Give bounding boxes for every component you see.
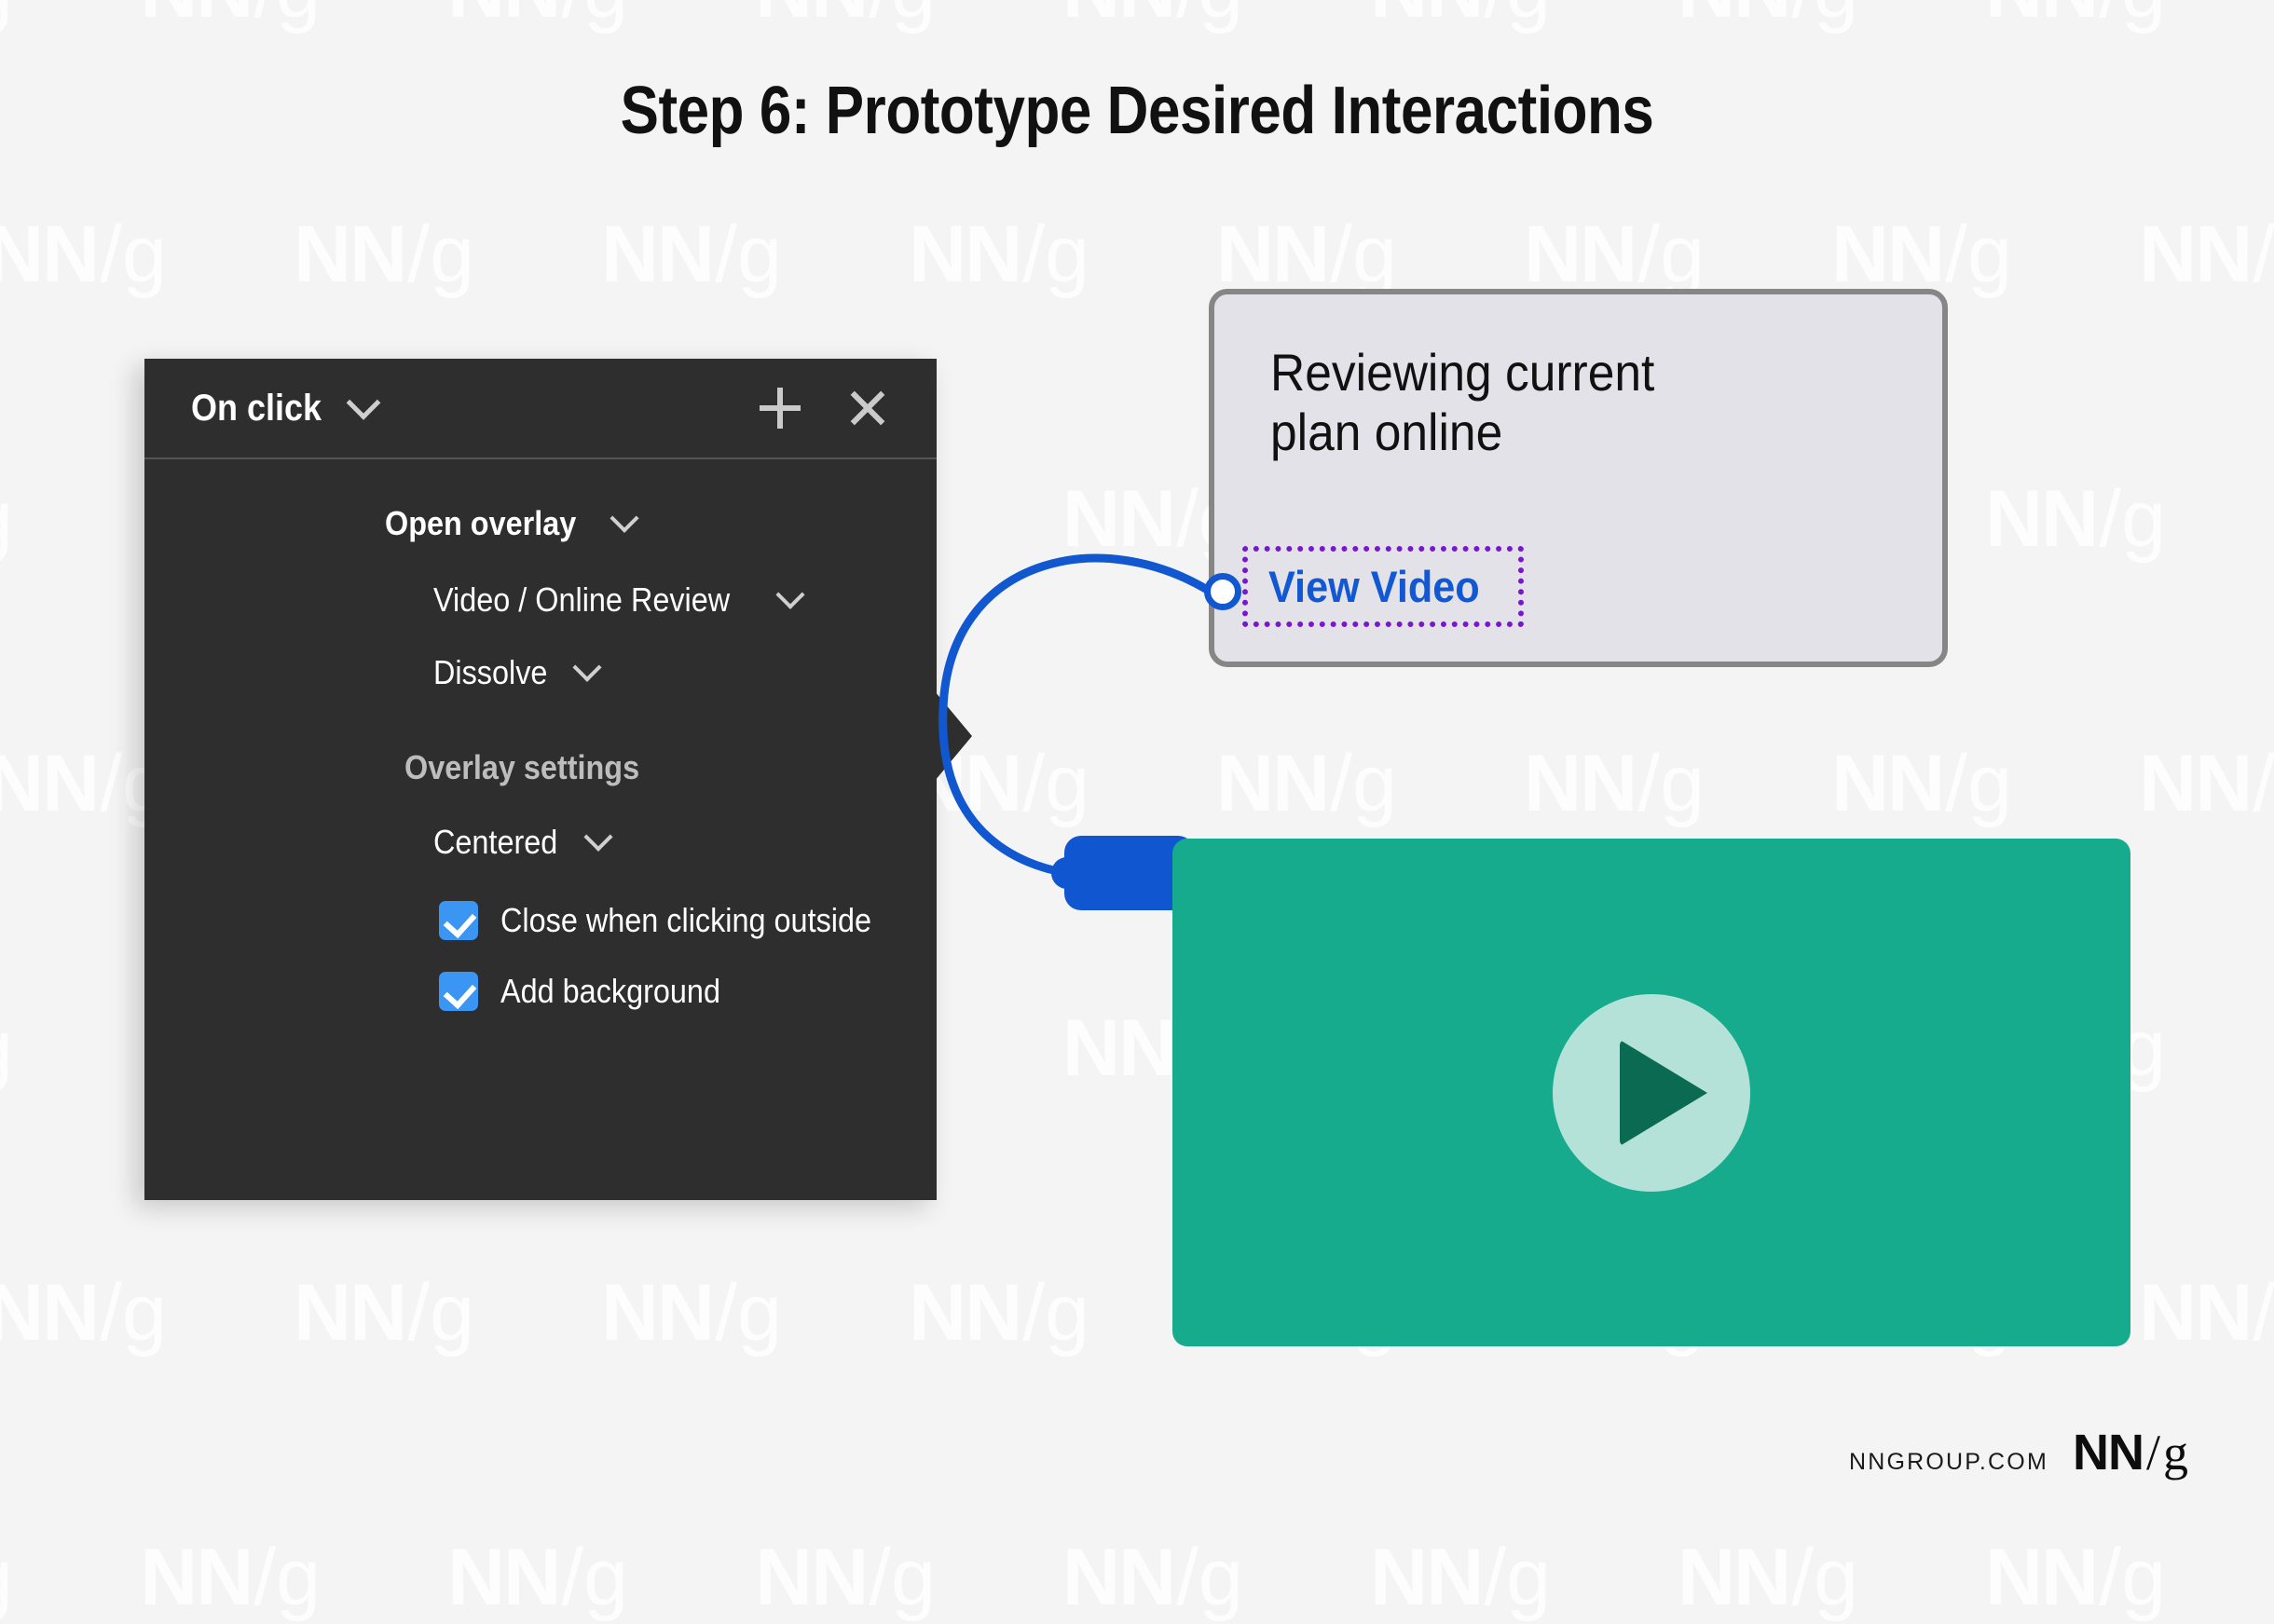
footer-url: NNGROUP.COM: [1849, 1449, 2048, 1476]
watermark-nng: NN/g: [140, 0, 319, 36]
watermark-nng: NN/g: [1062, 1532, 1241, 1624]
panel-header: On click: [144, 359, 937, 459]
logo-g: g: [2163, 1425, 2188, 1481]
watermark-nng: NN/g: [1678, 0, 1856, 36]
nng-logo: NN/g: [2073, 1424, 2188, 1481]
destination-dropdown[interactable]: Video / Online Review: [144, 580, 937, 620]
watermark-nng: NN/g: [1678, 1532, 1856, 1624]
chevron-down-icon: [346, 386, 380, 420]
watermark-nng: NN/g: [0, 209, 165, 301]
watermark-nng: NN/g: [294, 209, 473, 301]
action-dropdown[interactable]: Open overlay: [144, 504, 937, 543]
watermark-nng: NN/g: [0, 1532, 11, 1624]
page-title: Step 6: Prototype Desired Interactions: [159, 73, 2115, 149]
screen-card-title: Reviewing current plan online: [1270, 343, 1654, 463]
watermark-nng: NN/g: [1370, 1532, 1549, 1624]
watermark-nng: NN/g: [2139, 1267, 2274, 1359]
watermark-nng: NN/g: [1831, 209, 2010, 301]
animation-dropdown[interactable]: Dissolve: [144, 653, 937, 692]
checkbox-close-when-clicking-outside[interactable]: [439, 901, 478, 940]
watermark-nng: NN/g: [755, 0, 934, 36]
watermark-nng: NN/g: [909, 1267, 1088, 1359]
logo-slash: /: [2144, 1425, 2163, 1481]
watermark-nng: NN/g: [1831, 738, 2010, 830]
overlay-position-label: Centered: [433, 823, 557, 862]
trigger-dropdown[interactable]: On click: [191, 388, 376, 430]
panel-body: Open overlay Video / Online Review Disso…: [144, 459, 937, 1011]
checkbox-label-add-background: Add background: [500, 972, 720, 1011]
watermark-nng: NN/g: [1216, 209, 1395, 301]
chevron-down-icon: [572, 653, 601, 682]
overlay-settings-heading: Overlay settings: [144, 748, 857, 787]
watermark-nng: NN/g: [1985, 473, 2164, 566]
overlay-position-dropdown[interactable]: Centered: [144, 823, 937, 862]
checkbox-label-close-when-clicking-outside: Close when clicking outside: [500, 901, 871, 940]
checkbox-add-background[interactable]: [439, 972, 478, 1011]
watermark-nng: NN/g: [0, 738, 165, 830]
video-overlay-card: [1172, 839, 2130, 1346]
footer: NNGROUP.COM NN/g: [1849, 1424, 2188, 1481]
panel-title: On click: [191, 388, 322, 430]
watermark-nng: NN/g: [447, 0, 626, 36]
view-video-link[interactable]: View Video: [1268, 561, 1480, 612]
connector-handle[interactable]: [1204, 573, 1241, 610]
watermark-nng: NN/g: [1370, 0, 1549, 36]
chevron-down-icon: [775, 580, 804, 609]
watermark-nng: NN/g: [909, 209, 1088, 301]
action-label: Open overlay: [385, 504, 576, 543]
play-triangle: [1620, 1040, 1707, 1146]
plus-icon[interactable]: [760, 388, 801, 429]
watermark-nng: NN/g: [2139, 738, 2274, 830]
panel-pointer-arrow: [935, 691, 972, 781]
watermark-nng: NN/g: [601, 209, 780, 301]
screen-card: Reviewing current plan online View Video: [1209, 289, 1948, 667]
logo-nn: NN: [2073, 1425, 2144, 1481]
watermark-nng: NN/g: [0, 1267, 165, 1359]
checkbox-row-add-background[interactable]: Add background: [144, 972, 937, 1011]
play-icon[interactable]: [1553, 994, 1750, 1192]
watermark-nng: NN/g: [755, 1532, 934, 1624]
destination-label: Video / Online Review: [433, 580, 730, 620]
watermark-nng: NN/g: [1216, 738, 1395, 830]
watermark-nng: NN/g: [0, 0, 11, 36]
watermark-nng: NN/g: [1985, 1532, 2164, 1624]
watermark-nng: NN/g: [2139, 209, 2274, 301]
watermark-nng: NN/g: [294, 1267, 473, 1359]
chevron-down-icon: [610, 504, 639, 533]
watermark-nng: NN/g: [140, 1532, 319, 1624]
panel-header-actions: [760, 388, 888, 429]
watermark-nng: NN/g: [0, 1003, 11, 1095]
watermark-nng: NN/g: [0, 473, 11, 566]
close-icon[interactable]: [847, 388, 888, 429]
checkbox-row-close-outside[interactable]: Close when clicking outside: [144, 901, 937, 940]
watermark-nng: NN/g: [447, 1532, 626, 1624]
animation-label: Dissolve: [433, 653, 547, 692]
watermark-nng: NN/g: [1524, 209, 1703, 301]
watermark-nng: NN/g: [1062, 0, 1241, 36]
watermark-nng: NN/g: [1985, 0, 2164, 36]
chevron-down-icon: [584, 823, 613, 852]
watermark-nng: NN/g: [601, 1267, 780, 1359]
watermark-nng: NN/g: [1524, 738, 1703, 830]
interaction-settings-panel: On click Open overlay Video / Online Rev…: [144, 359, 937, 1200]
view-video-hotspot[interactable]: View Video: [1242, 546, 1524, 627]
